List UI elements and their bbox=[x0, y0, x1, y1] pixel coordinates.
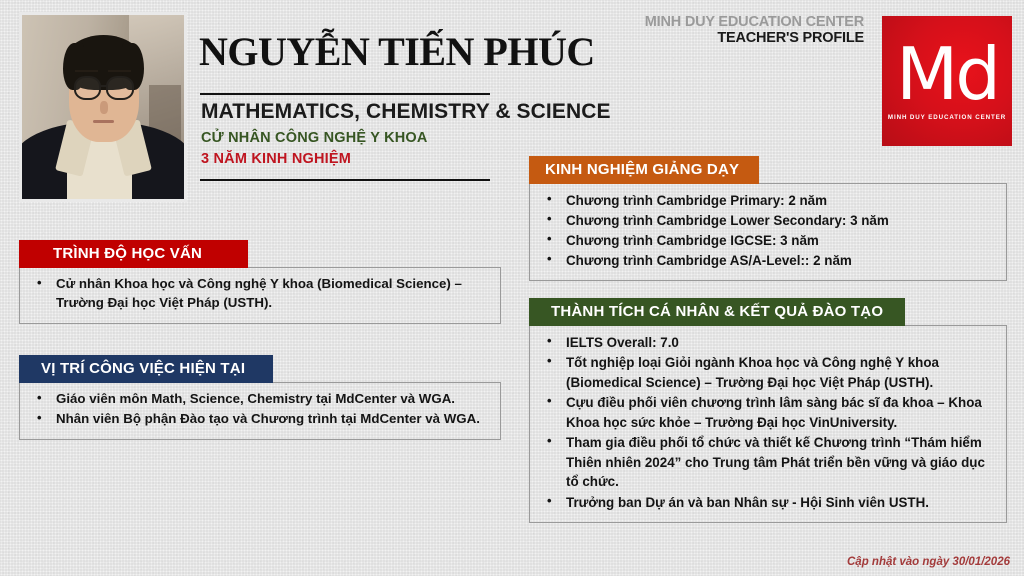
photo-glasses-lens-left bbox=[74, 76, 102, 100]
section-current-position-body: Giáo viên môn Math, Science, Chemistry t… bbox=[19, 382, 501, 440]
divider-bottom bbox=[200, 179, 490, 181]
list-item: Chương trình Cambridge Primary: 2 năm bbox=[540, 191, 996, 210]
photo-glasses-lens-right bbox=[106, 76, 134, 100]
divider-top bbox=[200, 93, 490, 95]
md-logo: Md MINH DUY EDUCATION CENTER bbox=[882, 16, 1012, 146]
list-item: Giáo viên môn Math, Science, Chemistry t… bbox=[30, 390, 490, 409]
brand-profile-label: TEACHER'S PROFILE bbox=[645, 30, 864, 46]
list-item: Trưởng ban Dự án và ban Nhân sự - Hội Si… bbox=[540, 493, 996, 512]
list-item: Nhân viên Bộ phận Đào tạo và Chương trìn… bbox=[30, 410, 490, 429]
list-item: IELTS Overall: 7.0 bbox=[540, 333, 996, 352]
section-teaching-experience-title: KINH NGHIỆM GIẢNG DẠY bbox=[529, 156, 759, 184]
section-teaching-experience-list: Chương trình Cambridge Primary: 2 năm Ch… bbox=[540, 191, 996, 270]
section-teaching-experience-body: Chương trình Cambridge Primary: 2 năm Ch… bbox=[529, 183, 1007, 281]
teacher-name: NGUYỄN TIẾN PHÚC bbox=[199, 28, 559, 75]
photo-mouth bbox=[93, 120, 114, 123]
updated-date: Cập nhật vào ngày 30/01/2026 bbox=[847, 556, 1010, 568]
photo-glasses-bridge bbox=[101, 85, 108, 87]
photo-nose bbox=[100, 101, 108, 114]
section-achievements-list: IELTS Overall: 7.0 Tốt nghiệp loại Giỏi … bbox=[540, 333, 996, 512]
md-logo-caption: MINH DUY EDUCATION CENTER bbox=[888, 114, 1006, 121]
section-achievements-title: THÀNH TÍCH CÁ NHÂN & KẾT QUẢ ĐÀO TẠO bbox=[529, 298, 905, 326]
degree-label: CỬ NHÂN CÔNG NGHỆ Y KHOA bbox=[201, 130, 428, 146]
section-achievements-body: IELTS Overall: 7.0 Tốt nghiệp loại Giỏi … bbox=[529, 325, 1007, 523]
section-current-position: VỊ TRÍ CÔNG VIỆC HIỆN TẠI Giáo viên môn … bbox=[19, 355, 501, 440]
section-education: TRÌNH ĐỘ HỌC VẤN Cử nhân Khoa học và Côn… bbox=[19, 240, 501, 324]
list-item: Cựu điều phối viên chương trình lâm sàng… bbox=[540, 393, 996, 432]
experience-label: 3 NĂM KINH NGHIỆM bbox=[201, 151, 351, 167]
list-item: Tham gia điều phối tổ chức và thiết kế C… bbox=[540, 433, 996, 491]
section-education-title: TRÌNH ĐỘ HỌC VẤN bbox=[19, 240, 248, 268]
md-logo-mark: Md bbox=[896, 45, 998, 104]
section-education-body: Cử nhân Khoa học và Công nghệ Y khoa (Bi… bbox=[19, 267, 501, 324]
section-achievements: THÀNH TÍCH CÁ NHÂN & KẾT QUẢ ĐÀO TẠO IEL… bbox=[529, 298, 1007, 523]
section-current-position-title: VỊ TRÍ CÔNG VIỆC HIỆN TẠI bbox=[19, 355, 273, 383]
list-item: Cử nhân Khoa học và Công nghệ Y khoa (Bi… bbox=[30, 275, 490, 313]
brand-heading: MINH DUY EDUCATION CENTER TEACHER'S PROF… bbox=[645, 14, 864, 46]
photo-eyebrow-left bbox=[75, 70, 98, 72]
list-item: Chương trình Cambridge IGCSE: 3 năm bbox=[540, 231, 996, 250]
section-education-list: Cử nhân Khoa học và Công nghệ Y khoa (Bi… bbox=[30, 275, 490, 313]
teacher-portrait-photo bbox=[19, 12, 187, 202]
list-item: Chương trình Cambridge Lower Secondary: … bbox=[540, 211, 996, 230]
list-item: Chương trình Cambridge AS/A-Level:: 2 nă… bbox=[540, 251, 996, 270]
photo-eyebrow-right bbox=[108, 70, 131, 72]
section-teaching-experience: KINH NGHIỆM GIẢNG DẠY Chương trình Cambr… bbox=[529, 156, 1007, 281]
section-current-position-list: Giáo viên môn Math, Science, Chemistry t… bbox=[30, 390, 490, 429]
teaching-subjects: MATHEMATICS, CHEMISTRY & SCIENCE bbox=[201, 100, 611, 124]
list-item: Tốt nghiệp loại Giỏi ngành Khoa học và C… bbox=[540, 353, 996, 392]
brand-center-name: MINH DUY EDUCATION CENTER bbox=[645, 14, 864, 30]
